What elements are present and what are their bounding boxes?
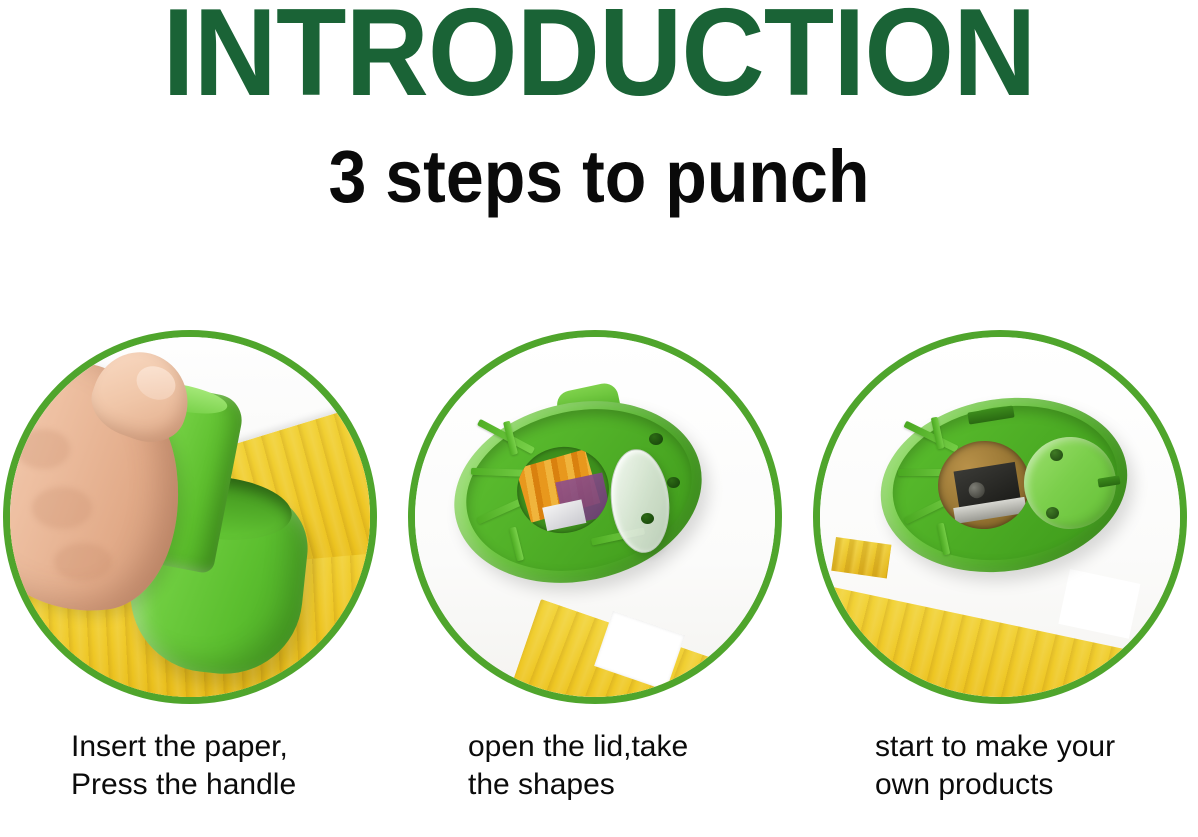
- hand-pressing-punch-on-paper-photo: [10, 337, 370, 697]
- knuckle-shadow: [32, 487, 92, 529]
- screw-hole: [667, 477, 680, 488]
- step-3-caption: start to make your own products: [813, 728, 1198, 805]
- step-1-photo-circle: [3, 330, 377, 704]
- knuckle-shadow: [54, 543, 112, 581]
- step-1: Insert the paper, Press the handle: [3, 330, 383, 837]
- step-2-caption: open the lid,take the shapes: [408, 728, 848, 805]
- lid-dot: [1050, 449, 1063, 461]
- steps-row: Insert the paper, Press the handle: [0, 330, 1198, 837]
- knuckle-shadow: [16, 429, 70, 469]
- step-1-caption: Insert the paper, Press the handle: [3, 728, 451, 805]
- step-3: start to make your own products: [813, 330, 1193, 837]
- lid-dot: [1046, 507, 1059, 519]
- step-2-photo-circle: [408, 330, 782, 704]
- screw-hole: [641, 513, 654, 524]
- step-3-photo-circle: [813, 330, 1187, 704]
- page-subtitle: 3 steps to punch: [48, 140, 1150, 214]
- page-title: INTRODUCTION: [42, 0, 1156, 118]
- screw-hole: [649, 433, 663, 445]
- step-2: open the lid,take the shapes: [408, 330, 788, 837]
- punch-underside-lid-closed-photo: [820, 337, 1180, 697]
- punch-underside-lid-open-photo: [415, 337, 775, 697]
